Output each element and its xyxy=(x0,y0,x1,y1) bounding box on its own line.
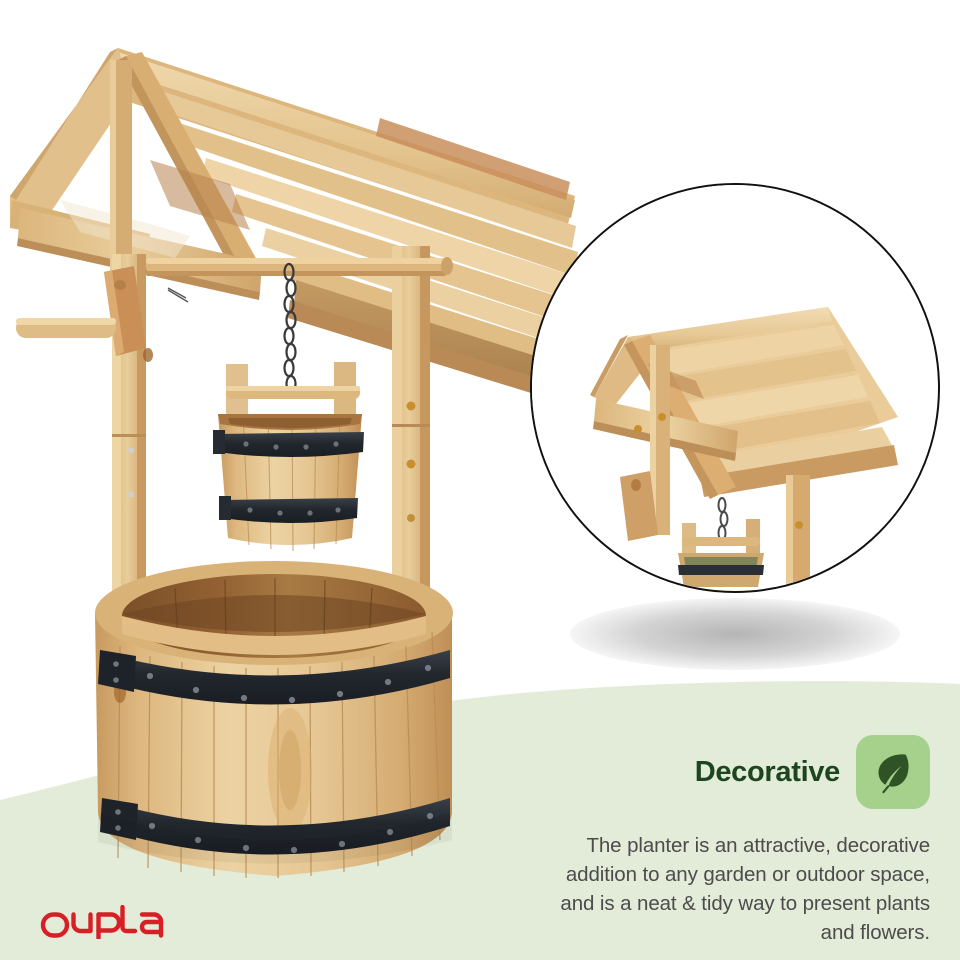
oypla-wordmark xyxy=(40,905,166,939)
brand-logo-oypla xyxy=(40,905,166,939)
leaf-icon-badge xyxy=(856,735,930,809)
feature-description-line-1: The planter is an attractive, decorative xyxy=(500,831,930,860)
feature-panel-header: Decorative xyxy=(500,735,930,809)
product-marketing-image: Decorative The planter is an attractive,… xyxy=(0,0,960,960)
feature-panel: Decorative The planter is an attractive,… xyxy=(500,735,930,947)
leaf-icon xyxy=(870,749,916,795)
feature-description: The planter is an attractive, decorative… xyxy=(500,831,930,947)
inset-drop-shadow xyxy=(570,598,900,670)
feature-description-line-2: addition to any garden or outdoor space, xyxy=(500,860,930,889)
feature-title: Decorative xyxy=(695,756,840,789)
feature-description-line-4: and flowers. xyxy=(500,918,930,947)
detail-inset-roof-closeup xyxy=(530,183,940,593)
feature-description-line-3: and is a neat & tidy way to present plan… xyxy=(500,889,930,918)
